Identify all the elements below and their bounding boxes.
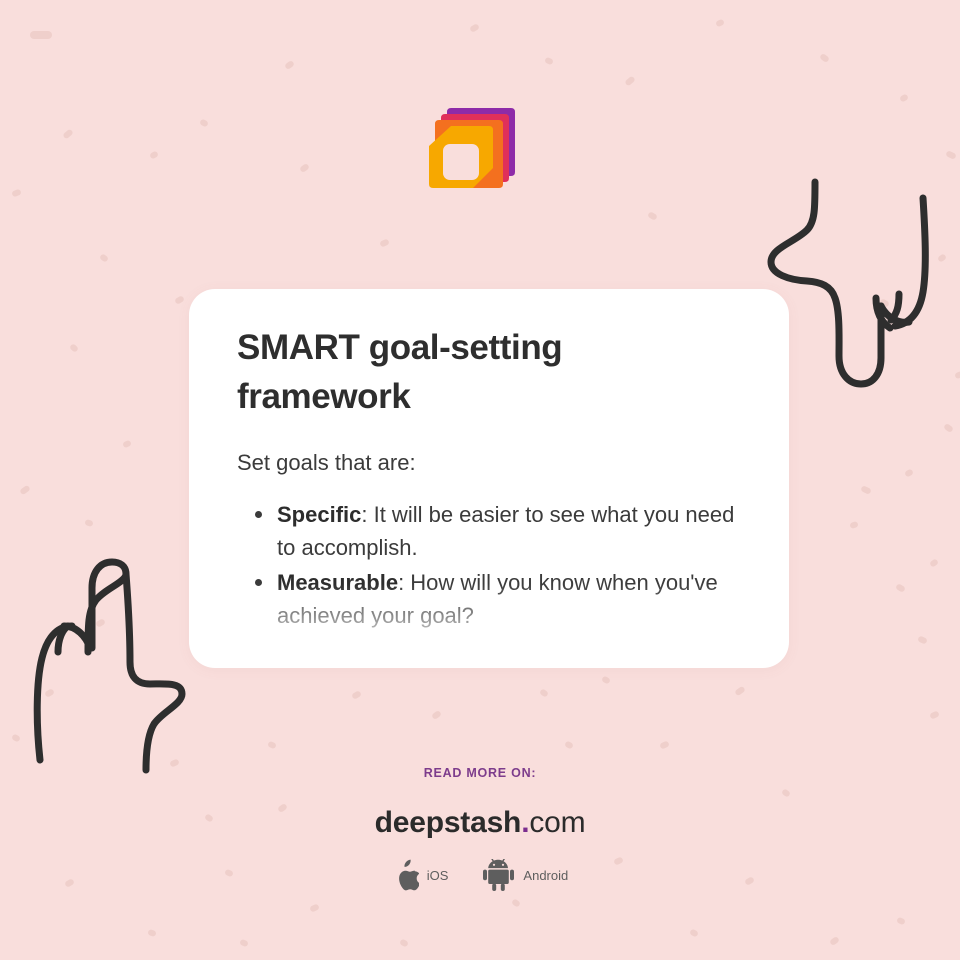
list-item-term: Specific (277, 502, 361, 527)
confetti-speck (351, 690, 362, 700)
ios-label: iOS (427, 868, 449, 883)
app-store-badges: iOS (0, 859, 960, 891)
card-intro-text: Set goals that are: (237, 449, 745, 478)
idea-card[interactable]: SMART goal-setting framework Set goals t… (189, 289, 789, 668)
confetti-speck (849, 521, 859, 529)
read-more-label: READ MORE ON: (0, 766, 960, 780)
confetti-speck (715, 19, 725, 28)
confetti-speck (929, 558, 939, 568)
confetti-speck (309, 903, 320, 912)
confetti-speck (904, 468, 914, 477)
confetti-speck (122, 440, 132, 449)
confetti-speck (99, 253, 109, 263)
list-item: Measurable: How will you know when you'v… (237, 567, 745, 633)
confetti-speck (601, 675, 611, 684)
android-label: Android (523, 868, 568, 883)
confetti-speck (299, 163, 310, 173)
smart-criteria-list: Specific: It will be easier to see what … (237, 499, 745, 632)
confetti-speck (895, 583, 906, 593)
confetti-speck (689, 928, 699, 937)
confetti-speck (469, 23, 480, 33)
deepstash-wordmark[interactable]: deepstash.com (0, 806, 960, 840)
confetti-speck (19, 485, 31, 496)
confetti-speck (564, 740, 574, 749)
confetti-speck (11, 733, 21, 742)
list-item-term: Measurable (277, 570, 398, 595)
confetti-speck (896, 917, 906, 926)
page-title: SMART goal-setting framework (237, 323, 617, 422)
confetti-speck (62, 128, 74, 139)
bullet-icon (255, 579, 262, 586)
deepstash-logo (427, 100, 519, 196)
confetti-speck (647, 211, 658, 221)
confetti-speck (44, 688, 55, 698)
confetti-speck (659, 740, 670, 749)
confetti-speck (399, 938, 409, 947)
wordmark-brand: deepstash (375, 806, 522, 839)
wordmark-tld: com (529, 806, 585, 839)
android-badge[interactable]: Android (482, 859, 568, 891)
idea-card-content: SMART goal-setting framework Set goals t… (189, 289, 789, 668)
confetti-speck (819, 53, 830, 63)
android-icon (482, 859, 515, 891)
confetti-speck (69, 343, 79, 353)
confetti-speck (937, 253, 947, 263)
confetti-speck (860, 485, 872, 495)
confetti-speck (929, 710, 940, 719)
confetti-speck (84, 519, 94, 527)
confetti-speck (945, 150, 957, 160)
confetti-speck (431, 710, 442, 720)
confetti-speck (379, 238, 390, 247)
bullet-icon (255, 511, 262, 518)
list-item: Specific: It will be easier to see what … (237, 499, 745, 565)
confetti-speck (174, 295, 185, 305)
confetti-speck (30, 31, 52, 39)
confetti-speck (917, 635, 928, 644)
confetti-speck (267, 741, 277, 750)
confetti-speck (539, 688, 549, 698)
confetti-speck (149, 150, 159, 159)
confetti-speck (899, 93, 909, 102)
confetti-speck (95, 618, 106, 628)
apple-icon (392, 859, 419, 891)
confetti-speck (147, 929, 157, 937)
confetti-speck (511, 898, 521, 908)
confetti-speck (829, 936, 840, 946)
confetti-speck (943, 423, 954, 433)
confetti-speck (239, 939, 249, 948)
confetti-speck (734, 686, 746, 697)
card-canvas: SMART goal-setting framework Set goals t… (0, 0, 960, 960)
confetti-speck (199, 118, 209, 127)
confetti-speck (544, 57, 554, 66)
confetti-speck (954, 371, 960, 380)
confetti-speck (11, 189, 22, 198)
confetti-speck (284, 60, 295, 70)
confetti-speck (624, 75, 636, 86)
ios-badge[interactable]: iOS (392, 859, 449, 891)
confetti-speck (879, 298, 890, 308)
footer: READ MORE ON: deepstash.com iOS (0, 766, 960, 891)
